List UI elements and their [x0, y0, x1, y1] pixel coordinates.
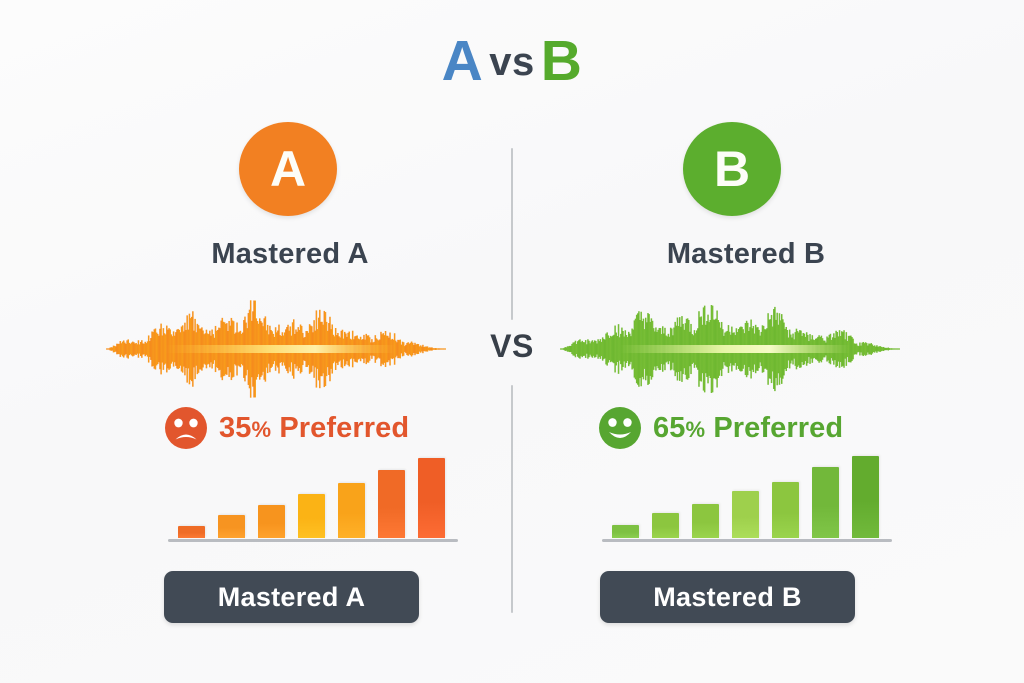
bar	[732, 491, 759, 538]
waveform-b-svg	[560, 300, 900, 398]
bar	[418, 458, 445, 538]
bar	[258, 505, 285, 538]
bar	[178, 526, 205, 538]
bar-chart-b-axis	[602, 539, 892, 542]
bar	[218, 515, 245, 538]
preference-text-b: 65% Preferred	[653, 412, 843, 445]
bar	[852, 456, 879, 538]
panel-b-title: Mastered B	[496, 238, 996, 271]
waveform-bar	[899, 348, 900, 349]
preference-row-b: 65% Preferred	[598, 406, 843, 450]
badge-b: B	[683, 122, 781, 216]
infographic-root: AvsB VS A Mastered A	[0, 0, 1024, 683]
badge-a-letter: A	[270, 140, 306, 198]
bar	[298, 494, 325, 538]
preference-percent-b: 65	[653, 412, 685, 444]
preference-label-b: Preferred	[713, 412, 843, 444]
bar	[612, 525, 639, 538]
sad-face-icon	[164, 406, 208, 450]
chip-mastered-a[interactable]: Mastered A	[164, 571, 419, 623]
waveform-bar	[445, 348, 446, 349]
panel-a-title: Mastered A	[40, 238, 540, 271]
chip-mastered-b-label: Mastered B	[653, 582, 802, 613]
preference-percent-sign-b: %	[685, 417, 705, 442]
badge-a: A	[239, 122, 337, 216]
preference-text-a: 35% Preferred	[219, 412, 409, 445]
bar	[812, 467, 839, 538]
bar	[338, 483, 365, 538]
waveform-a	[106, 300, 446, 398]
panel-mastered-b: B Mastered B	[508, 0, 1008, 683]
bar	[652, 513, 679, 538]
bar	[692, 504, 719, 538]
panel-mastered-a: A Mastered A	[20, 0, 520, 683]
bar-chart-a	[160, 450, 460, 542]
bar-chart-b-bars	[594, 450, 894, 538]
chip-mastered-a-label: Mastered A	[218, 582, 366, 613]
preference-percent-sign-a: %	[251, 417, 271, 442]
preference-label-a: Preferred	[279, 412, 409, 444]
waveform-b	[560, 300, 900, 398]
bar	[772, 482, 799, 538]
badge-b-letter: B	[714, 140, 750, 198]
bar-chart-a-axis	[168, 539, 458, 542]
preference-row-a: 35% Preferred	[164, 406, 409, 450]
preference-percent-a: 35	[219, 412, 251, 444]
chip-mastered-b[interactable]: Mastered B	[600, 571, 855, 623]
bar-chart-b	[594, 450, 894, 542]
happy-face-icon	[598, 406, 642, 450]
waveform-a-svg	[106, 300, 446, 398]
bar	[378, 470, 405, 538]
bar-chart-a-bars	[160, 450, 460, 538]
